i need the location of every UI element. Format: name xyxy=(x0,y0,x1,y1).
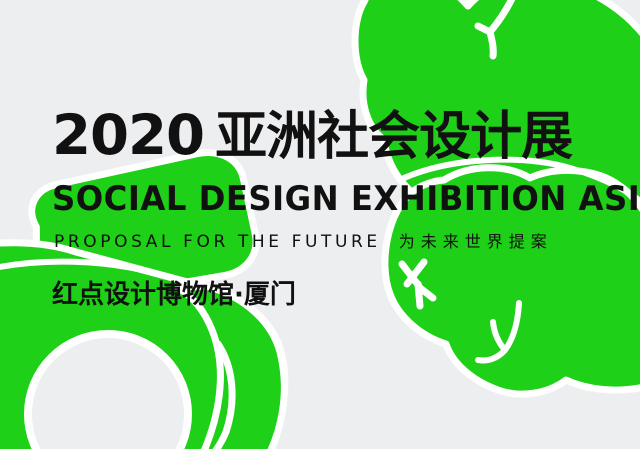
subhead-title-en: SOCIAL DESIGN EXHIBITION ASIA xyxy=(52,182,640,216)
headline-year: 2020 xyxy=(52,108,204,163)
tagline-text-cn: 为未来世界提案 xyxy=(399,234,553,250)
tagline: PROPOSAL FOR THE FUTURE 为未来世界提案 xyxy=(54,234,553,251)
poster-canvas: 2020 亚洲社会设计展 SOCIAL DESIGN EXHIBITION AS… xyxy=(0,0,640,449)
text-layer: 2020 亚洲社会设计展 SOCIAL DESIGN EXHIBITION AS… xyxy=(0,0,640,449)
headline: 2020 亚洲社会设计展 xyxy=(52,108,572,163)
tagline-text-en: PROPOSAL FOR THE FUTURE xyxy=(54,234,381,251)
headline-title-cn: 亚洲社会设计展 xyxy=(215,111,572,163)
venue-text-cn: 红点设计博物馆·厦门 xyxy=(52,282,296,308)
